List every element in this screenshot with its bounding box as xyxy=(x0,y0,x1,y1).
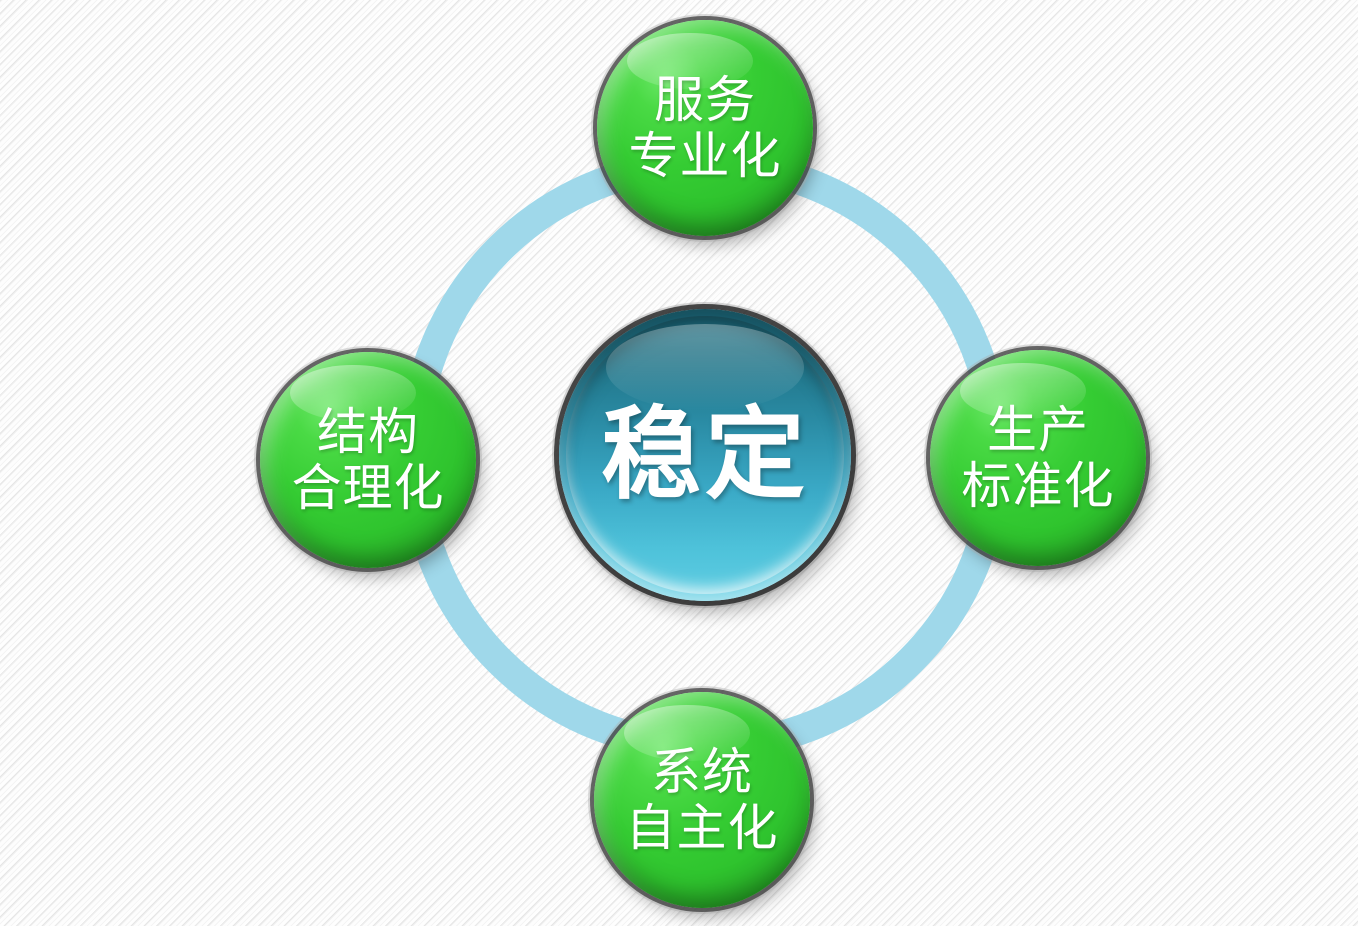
node-label-right-line2: 标准化 xyxy=(962,458,1115,514)
node-label-top: 服务 专业化 xyxy=(597,20,813,236)
node-system-autonomy[interactable]: 系统 自主化 xyxy=(594,692,810,908)
node-label-top-line2: 专业化 xyxy=(629,128,782,184)
node-label-left-line1: 结构 xyxy=(317,404,419,460)
node-label-top-line1: 服务 xyxy=(654,72,756,128)
node-label-bottom-line1: 系统 xyxy=(651,744,753,800)
node-label-left: 结构 合理化 xyxy=(260,352,476,568)
node-label-bottom-line2: 自主化 xyxy=(626,800,779,856)
node-label-right: 生产 标准化 xyxy=(930,350,1146,566)
center-node-stability[interactable]: 稳定 xyxy=(559,309,851,601)
diagram-canvas: 稳定 服务 专业化 生产 标准化 系统 自主化 结构 合理化 xyxy=(0,0,1358,926)
node-label-right-line1: 生产 xyxy=(987,402,1089,458)
node-label-left-line2: 合理化 xyxy=(292,460,445,516)
node-service-professionalization[interactable]: 服务 专业化 xyxy=(597,20,813,236)
node-structure-rationalization[interactable]: 结构 合理化 xyxy=(260,352,476,568)
node-production-standardization[interactable]: 生产 标准化 xyxy=(930,350,1146,566)
center-node-label: 稳定 xyxy=(559,309,851,601)
node-label-bottom: 系统 自主化 xyxy=(594,692,810,908)
